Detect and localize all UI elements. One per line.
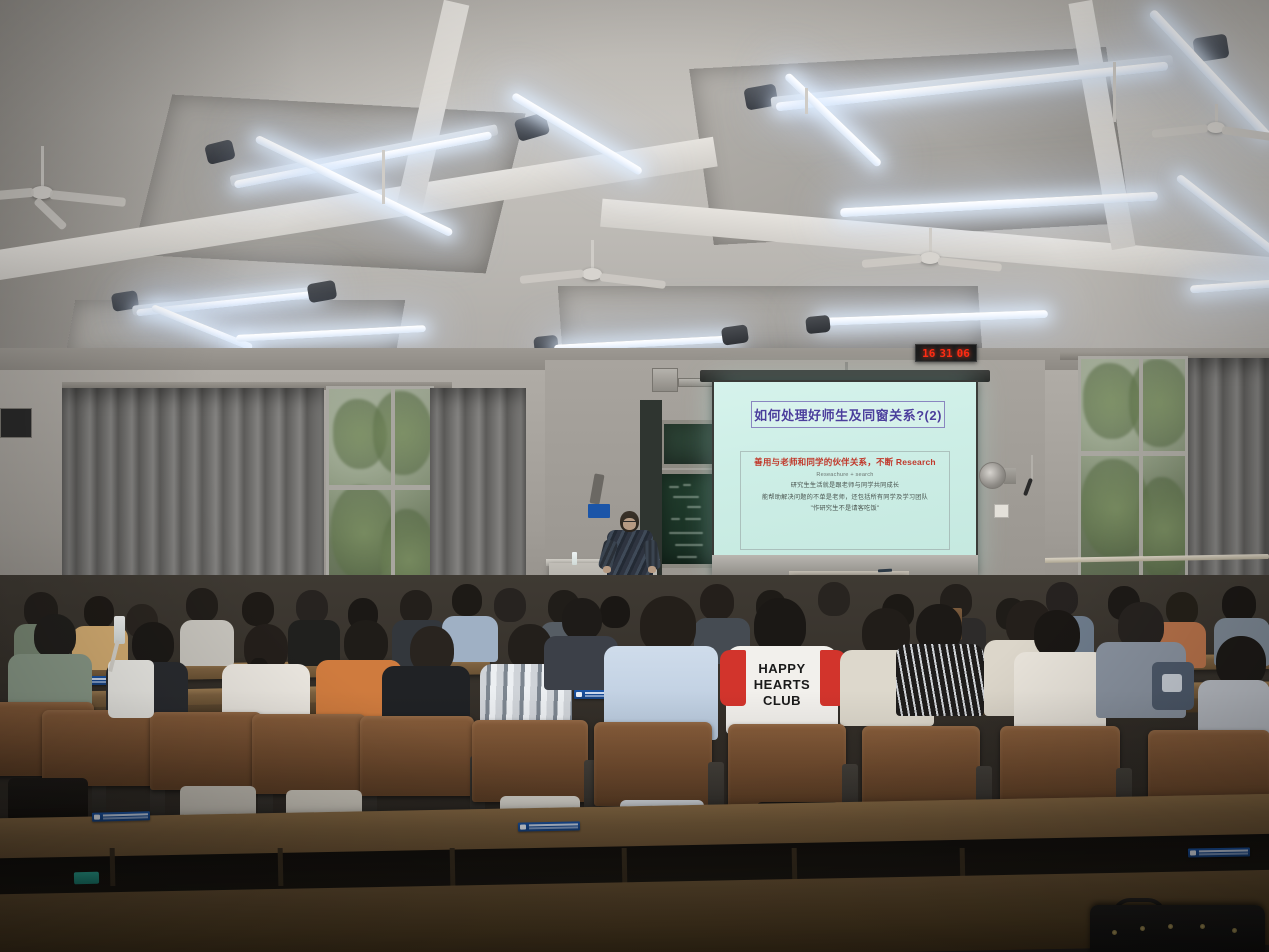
desk-sticker: [518, 821, 580, 831]
slide-bullet: Reseachure + search: [744, 472, 946, 478]
audience-torso: [1014, 652, 1106, 732]
fluorescent-tube: [1175, 173, 1269, 258]
ceiling-fan-blade: [520, 269, 584, 284]
wall-av-panel[interactable]: [0, 408, 32, 438]
chalk-writing: [675, 544, 703, 546]
audience-head: [242, 592, 274, 626]
seated-person-lower: [8, 778, 88, 822]
shirt-line-1: HAPPY: [742, 662, 822, 676]
chalk-writing: [669, 532, 703, 534]
ceiling-fan-blade: [862, 255, 922, 268]
audience-head: [84, 596, 114, 628]
ceiling-drop-rod: [1113, 62, 1116, 122]
light-fixture-cap: [805, 315, 831, 334]
ceiling: [0, 0, 1269, 372]
chalk-writing: [671, 518, 680, 520]
audience-head: [1034, 610, 1080, 658]
ceiling-drop-rod: [805, 88, 808, 114]
tree-foliage: [1129, 359, 1188, 447]
audience-head: [600, 596, 630, 628]
audience-head: [186, 588, 218, 622]
clock-hours: 16: [922, 348, 935, 359]
desk-sticker: [1188, 847, 1250, 857]
lecturer-hand-left: [603, 566, 611, 573]
curtain-right[interactable]: [1188, 358, 1269, 602]
chalk-writing: [685, 518, 701, 520]
chalk-writing: [677, 556, 697, 558]
desk-sticker: [92, 811, 150, 822]
audience-head: [494, 588, 526, 622]
window-mullion: [1139, 359, 1143, 588]
chair-back[interactable]: [360, 716, 474, 796]
shelf-divider: [278, 848, 284, 886]
audience-head: [400, 590, 432, 624]
teal-box-item: [74, 872, 99, 885]
slide-bullet: 能帮助解决问题的不单是老师，还包括所有同学及学习团队: [744, 492, 946, 501]
shirt-line-2: HEARTS: [742, 678, 822, 692]
window-right: [1078, 356, 1188, 588]
audience-head: [700, 584, 734, 620]
window-mullion: [1081, 451, 1188, 456]
pull-cord[interactable]: [1031, 455, 1033, 480]
audience-head: [562, 598, 602, 640]
electrical-box: [652, 368, 678, 392]
ceiling-fan-blade: [1152, 124, 1209, 138]
floor-bag: [108, 660, 154, 718]
handbag-stud: [1200, 924, 1205, 929]
ceiling-drop-rod: [382, 150, 385, 204]
audience-head: [34, 614, 76, 658]
wall-notice: [994, 504, 1009, 518]
shelf-divider: [110, 848, 116, 886]
handbag-stud: [1168, 924, 1173, 929]
chair-back[interactable]: [472, 720, 588, 802]
light-fixture-cap: [721, 324, 749, 345]
audience-torso: [896, 644, 984, 716]
slide-body: 善用与老师和同学的伙伴关系，不断 Research Reseachure + s…: [740, 451, 950, 550]
chair-back[interactable]: [728, 724, 846, 808]
projection-screen: 如何处理好师生及同窗关系?(2) 善用与老师和同学的伙伴关系，不断 Resear…: [712, 380, 978, 575]
backpack-pocket: [1162, 674, 1182, 692]
chair-back[interactable]: [42, 710, 154, 786]
clock-minutes: 31: [939, 348, 952, 359]
audience-head: [296, 590, 328, 624]
handbag-stud: [1112, 930, 1117, 935]
lecture-hall-photo: 16 31 06 如何处理好师生及同窗关系?(2) 善用与老师和同学的伙伴关系，…: [0, 0, 1269, 952]
slide-heading: 善用与老师和同学的伙伴关系，不断 Research: [744, 456, 946, 468]
chalk-writing: [669, 486, 679, 488]
chair-back[interactable]: [150, 712, 262, 790]
wall-sign: [588, 504, 610, 518]
shelf-divider: [622, 848, 628, 886]
handbag-stud: [1232, 928, 1237, 933]
clock-seconds: 06: [957, 348, 970, 359]
audience-head: [452, 584, 482, 616]
slide-title: 如何处理好师生及同窗关系?(2): [751, 401, 946, 428]
handbag: [1090, 905, 1265, 952]
handbag-stud: [1140, 926, 1145, 931]
audience-head: [818, 582, 850, 616]
wall-fan[interactable]: [979, 462, 1006, 489]
curtain-left-edge[interactable]: [430, 388, 526, 602]
led-wall-clock: 16 31 06: [915, 344, 977, 362]
shirt-line-3: CLUB: [742, 694, 822, 708]
lecturer-hand-right: [648, 566, 656, 573]
chair-back[interactable]: [862, 726, 980, 810]
glasses-icon: [623, 521, 636, 525]
tree-foliage: [1137, 477, 1188, 581]
chair-back[interactable]: [252, 714, 366, 794]
tree-foliage: [373, 391, 433, 475]
window-mullion: [329, 485, 434, 490]
slide-bullet: 研究生生活就是跟老师与同学共同成长: [744, 480, 946, 489]
audience-torso: [180, 620, 234, 666]
audience-head: [1166, 592, 1198, 626]
chalk-writing: [687, 506, 701, 508]
chalk-writing: [683, 484, 691, 486]
shelf-divider: [450, 848, 456, 886]
water-bottle: [572, 552, 577, 565]
chalk-writing: [673, 496, 699, 498]
ceiling-fan-rod: [41, 146, 44, 190]
audience-head: [1222, 586, 1256, 622]
chair-back[interactable]: [594, 722, 712, 806]
slide-bullet: "作研究生不是请客吃饭": [744, 503, 946, 512]
